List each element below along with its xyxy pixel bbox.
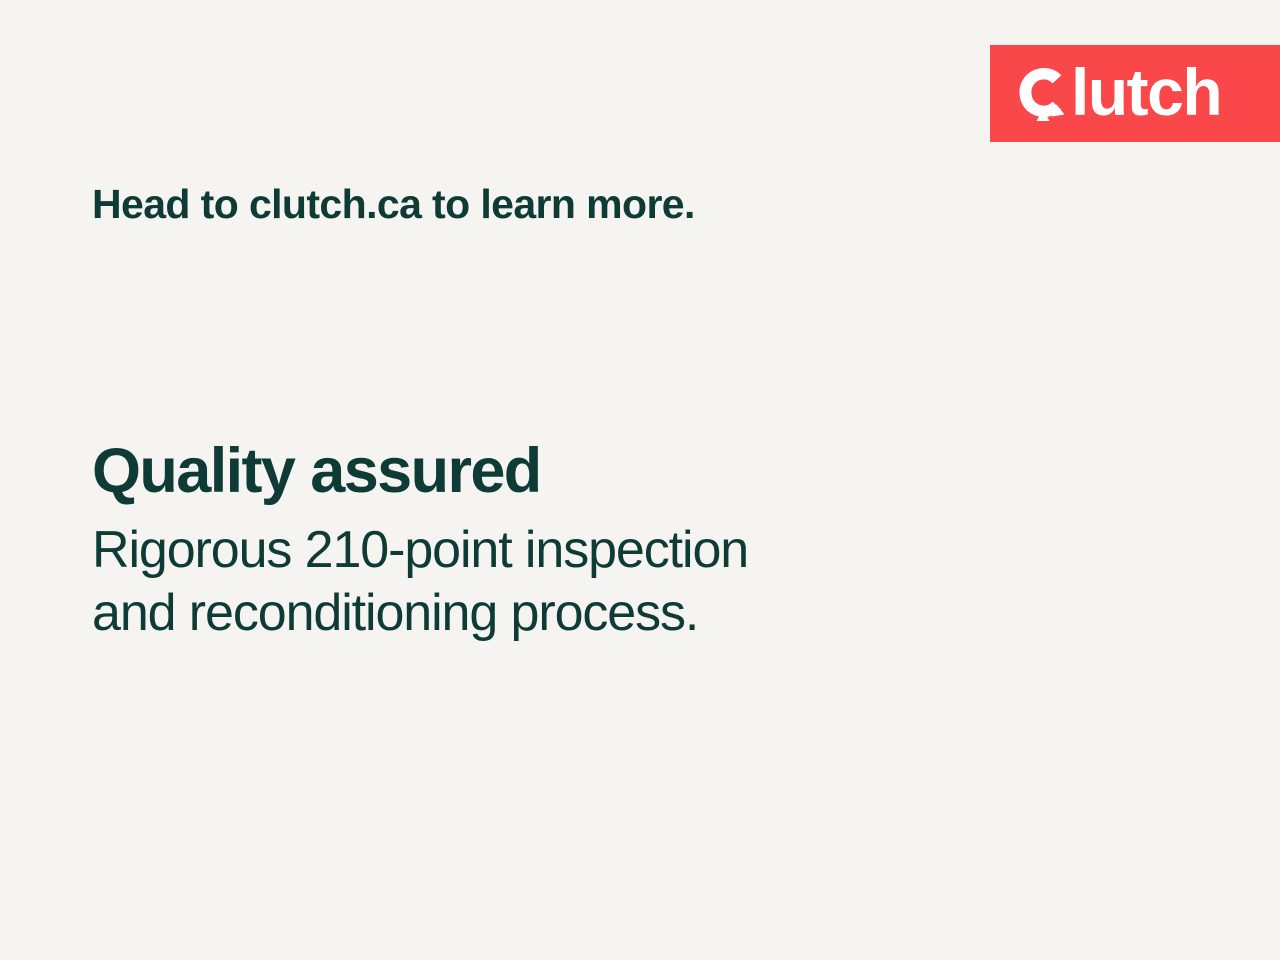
clutch-brand-badge[interactable]: lutch [990,45,1280,142]
subcopy-line-1: Rigorous 210-point inspection [92,519,1092,582]
clutch-wordmark: lutch [1071,59,1221,125]
message-block: Quality assured Rigorous 210-point inspe… [92,437,1092,646]
slide-canvas: lutch Head to clutch.ca to learn more. Q… [0,0,1280,960]
lead-line-text: Head to clutch.ca to learn more. [92,180,695,229]
subcopy-line-2: and reconditioning process. [92,582,1092,645]
subcopy-text: Rigorous 210-point inspection and recond… [92,519,1092,646]
clutch-logo-lockup: lutch [1018,61,1221,127]
clutch-c-mark-icon [1018,66,1070,122]
headline-text: Quality assured [92,437,1092,505]
